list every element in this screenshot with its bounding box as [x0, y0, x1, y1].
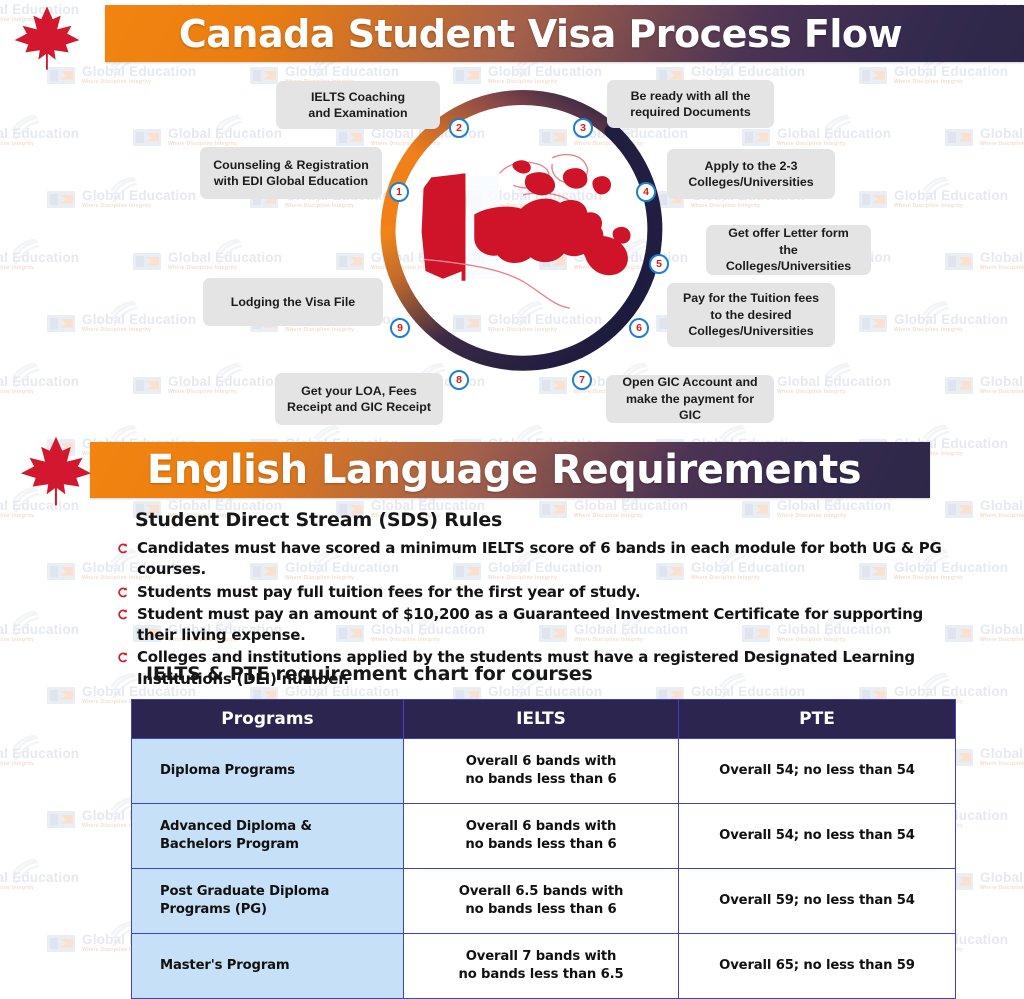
step-box-8: Get your LOA, FeesReceipt and GIC Receip… — [275, 373, 443, 425]
english-requirements-section: Student Direct Stream (SDS) Rules Candid… — [0, 500, 1024, 961]
column-header-pte: PTE — [679, 700, 956, 739]
cell-pte: Overall 54; no less than 54 — [679, 739, 956, 804]
cell-ielts: Overall 6 bands withno bands less than 6 — [404, 804, 679, 869]
step-box-6: Pay for the Tuition feesto the desiredCo… — [667, 283, 835, 347]
requirement-chart-heading: IELTS & PTE requirement chart for course… — [146, 663, 593, 685]
step-badge-4: 4 — [636, 182, 656, 202]
sds-rule-item: Students must pay full tuition fees for … — [115, 582, 955, 603]
step-box-7: Open GIC Account andmake the payment for… — [606, 375, 774, 423]
step-badge-1: 1 — [389, 182, 409, 202]
maple-leaf-icon — [14, 432, 98, 510]
step-badge-7: 7 — [572, 370, 592, 390]
step-badge-9: 9 — [390, 318, 410, 338]
english-requirements-title: English Language Requirements — [90, 447, 930, 493]
step-box-5: Get offer Letter formthe Colleges/Univer… — [706, 225, 871, 275]
sds-rules-heading: Student Direct Stream (SDS) Rules — [135, 509, 502, 531]
cell-pte: Overall 65; no less than 59 — [679, 934, 956, 999]
table-header-row: Programs IELTS PTE — [132, 700, 956, 739]
step-badge-2: 2 — [449, 118, 469, 138]
cell-ielts: Overall 6 bands withno bands less than 6 — [404, 739, 679, 804]
cell-program: Master's Program — [132, 934, 404, 999]
process-flow-banner: Canada Student Visa Process Flow — [105, 5, 1024, 62]
maple-leaf-icon — [8, 2, 86, 74]
sds-rule-text: Students must pay full tuition fees for … — [137, 582, 640, 603]
cell-pte: Overall 54; no less than 54 — [679, 804, 956, 869]
column-header-programs: Programs — [132, 700, 404, 739]
step-box-1: Counseling & Registrationwith EDI Global… — [200, 147, 382, 199]
canada-map-flag-icon — [406, 118, 640, 346]
curved-arrow-bullet-icon — [115, 648, 129, 667]
curved-arrow-bullet-icon — [115, 583, 129, 602]
step-badge-5: 5 — [649, 254, 669, 274]
process-flow-title: Canada Student Visa Process Flow — [105, 12, 1024, 56]
curved-arrow-bullet-icon — [115, 605, 129, 624]
cell-pte: Overall 59; no less than 54 — [679, 869, 956, 934]
column-header-ielts: IELTS — [404, 700, 679, 739]
cell-program: Diploma Programs — [132, 739, 404, 804]
table-row: Advanced Diploma &Bachelors ProgramOvera… — [132, 804, 956, 869]
step-badge-6: 6 — [629, 318, 649, 338]
sds-rule-text: Student must pay an amount of $10,200 as… — [137, 604, 955, 647]
sds-rule-item: Student must pay an amount of $10,200 as… — [115, 604, 955, 647]
cell-ielts: Overall 7 bands withno bands less than 6… — [404, 934, 679, 999]
visa-process-flow-diagram: 1 2 3 4 5 6 7 8 9 Counseling & Registrat… — [0, 62, 1024, 434]
english-requirements-banner: English Language Requirements — [90, 442, 930, 498]
curved-arrow-bullet-icon — [115, 539, 129, 558]
cell-program: Post Graduate DiplomaPrograms (PG) — [132, 869, 404, 934]
table-row: Diploma ProgramsOverall 6 bands withno b… — [132, 739, 956, 804]
step-badge-8: 8 — [449, 370, 469, 390]
step-box-9: Lodging the Visa File — [203, 278, 383, 326]
ielts-pte-requirement-table: Programs IELTS PTE Diploma ProgramsOvera… — [131, 699, 956, 999]
step-box-2: IELTS Coachingand Examination — [276, 81, 440, 129]
table-row: Master's ProgramOverall 7 bands withno b… — [132, 934, 956, 999]
table-row: Post Graduate DiplomaPrograms (PG)Overal… — [132, 869, 956, 934]
cell-program: Advanced Diploma &Bachelors Program — [132, 804, 404, 869]
step-box-4: Apply to the 2-3Colleges/Universities — [667, 149, 835, 199]
step-box-3: Be ready with all therequired Documents — [607, 80, 774, 128]
step-badge-3: 3 — [573, 118, 593, 138]
cell-ielts: Overall 6.5 bands withno bands less than… — [404, 869, 679, 934]
sds-rule-text: Candidates must have scored a minimum IE… — [137, 538, 955, 581]
sds-rule-item: Candidates must have scored a minimum IE… — [115, 538, 955, 581]
